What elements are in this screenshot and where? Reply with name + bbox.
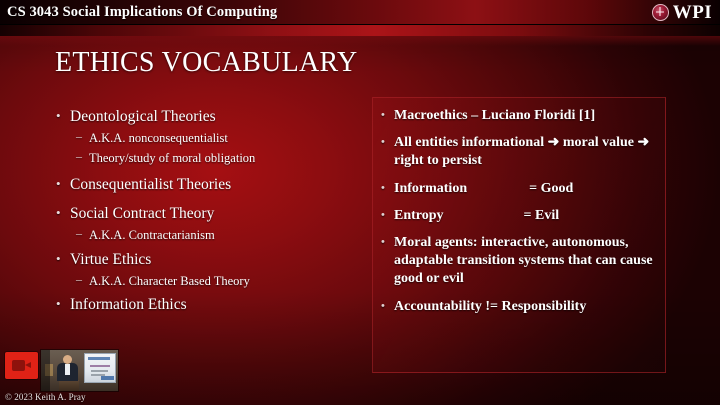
list-item-label: Social Contract Theory xyxy=(70,203,366,224)
list-item: • Accountability != Responsibility xyxy=(381,298,655,316)
header-accent-band xyxy=(0,25,720,36)
bullet-dot-icon: • xyxy=(381,234,394,248)
webcam-podium xyxy=(59,380,79,391)
list-item: • Social Contract Theory xyxy=(56,203,366,224)
camera-glyph xyxy=(12,360,31,371)
list-item-value: = Good xyxy=(529,181,573,196)
dash-bullet-icon: – xyxy=(76,149,89,162)
list-item: • Macroethics – Luciano Floridi [1] xyxy=(381,107,655,125)
list-item-value: = Evil xyxy=(524,208,560,223)
course-title: CS 3043 Social Implications Of Computing xyxy=(0,4,277,21)
presentation-slide: CS 3043 Social Implications Of Computing… xyxy=(0,0,720,405)
bullet-dot-icon: • xyxy=(56,203,70,219)
screen-line xyxy=(101,376,114,380)
dash-bullet-icon: – xyxy=(76,226,89,239)
list-item-label: Moral agents: interactive, autonomous, a… xyxy=(394,234,655,289)
webcam-edge-shadow xyxy=(41,350,50,391)
bullet-dot-icon: • xyxy=(381,207,394,221)
list-item: • Moral agents: interactive, autonomous,… xyxy=(381,234,655,289)
bullet-dot-icon: • xyxy=(56,174,70,190)
bullet-dot-icon: • xyxy=(381,180,394,194)
presenter-webcam-thumbnail[interactable] xyxy=(41,350,118,391)
webcam-presentation-screen xyxy=(84,353,116,383)
bullet-dot-icon: • xyxy=(56,106,70,122)
webcam-presenter-head xyxy=(63,355,72,364)
list-item-label: Consequentialist Theories xyxy=(70,174,366,195)
list-item-label: Information Ethics xyxy=(70,294,366,315)
dash-bullet-icon: – xyxy=(76,129,89,142)
page-title: ETHICS VOCABULARY xyxy=(55,47,358,79)
list-item-label: Virtue Ethics xyxy=(70,249,366,270)
list-item: • Deontological Theories xyxy=(56,106,366,127)
bullet-dot-icon: • xyxy=(56,249,70,265)
list-item: • Information Ethics xyxy=(56,294,366,315)
list-item-label: All entities informational ➜ moral value… xyxy=(394,134,655,170)
list-item: • Entropy= Evil xyxy=(381,207,655,225)
list-item: – A.K.A. Character Based Theory xyxy=(56,272,366,290)
list-item-label: A.K.A. Contractarianism xyxy=(89,226,366,244)
copyright-text: © 2023 Keith A. Pray xyxy=(5,392,86,402)
wpi-logo-text: WPI xyxy=(673,3,712,22)
list-item-label: A.K.A. nonconsequentialist xyxy=(89,129,366,147)
bullet-dot-icon: • xyxy=(381,134,394,148)
list-item: • Consequentialist Theories xyxy=(56,174,366,195)
list-item: • All entities informational ➜ moral val… xyxy=(381,134,655,170)
list-item: – A.K.A. nonconsequentialist xyxy=(56,129,366,147)
list-item-label: Entropy xyxy=(394,208,444,223)
left-bullet-column: • Deontological Theories – A.K.A. noncon… xyxy=(56,106,366,317)
list-item: • Virtue Ethics xyxy=(56,249,366,270)
screen-line xyxy=(88,357,110,360)
wpi-seal-icon xyxy=(652,4,669,21)
screen-line xyxy=(90,365,110,367)
header-accent-fade xyxy=(0,36,720,46)
dash-bullet-icon: – xyxy=(76,272,89,285)
list-item: • Information= Good xyxy=(381,180,655,198)
right-bullet-panel: • Macroethics – Luciano Floridi [1] • Al… xyxy=(372,97,666,373)
list-item-label: Macroethics – Luciano Floridi [1] xyxy=(394,107,655,125)
screen-line xyxy=(91,370,108,372)
wpi-logo: WPI xyxy=(652,3,720,22)
list-item-label: A.K.A. Character Based Theory xyxy=(89,272,366,290)
list-item: – Theory/study of moral obligation xyxy=(56,149,366,167)
bullet-dot-icon: • xyxy=(56,294,70,310)
list-item-label: Accountability != Responsibility xyxy=(394,298,655,316)
video-camera-icon[interactable] xyxy=(5,352,38,379)
bullet-dot-icon: • xyxy=(381,107,394,121)
bullet-dot-icon: • xyxy=(381,298,394,312)
list-item: – A.K.A. Contractarianism xyxy=(56,226,366,244)
list-item-label: Deontological Theories xyxy=(70,106,366,127)
list-item-label: Theory/study of moral obligation xyxy=(89,149,366,167)
webcam-presenter-shirt xyxy=(65,364,70,375)
list-item-label: Information xyxy=(394,181,467,196)
slide-header-bar: CS 3043 Social Implications Of Computing… xyxy=(0,0,720,25)
